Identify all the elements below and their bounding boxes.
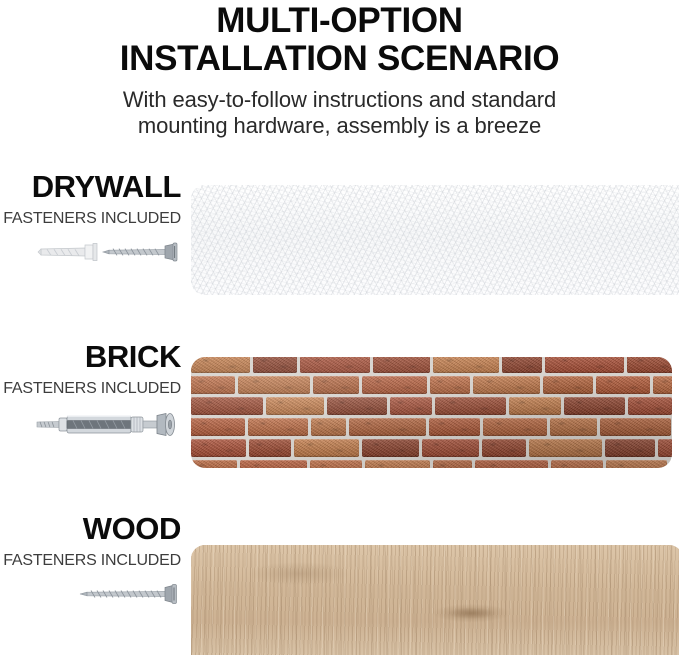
brick-unit [300, 357, 370, 373]
drywall-fasteners-note: FASTENERS INCLUDED [0, 209, 181, 228]
brick-unit [249, 439, 291, 457]
brick-course [191, 416, 672, 437]
brick-unit [390, 397, 432, 415]
brick-unit [191, 397, 263, 415]
brick-unit [191, 460, 237, 468]
brick-unit [545, 357, 624, 373]
brick-unit [502, 357, 542, 373]
brick-unit [310, 460, 362, 468]
brick-unit [600, 418, 671, 436]
wood-fastener-art [0, 579, 181, 619]
brick-unit [628, 397, 672, 415]
brick-course [191, 374, 672, 395]
brick-unit [543, 376, 593, 394]
brick-unit [191, 357, 250, 373]
brick-unit [373, 357, 430, 373]
brick-unit [670, 460, 672, 468]
brick-unit [550, 418, 597, 436]
wood-screw-icon [80, 585, 177, 604]
brick-fasteners-note: FASTENERS INCLUDED [0, 379, 181, 398]
brick-unit [349, 418, 426, 436]
brick-unit [564, 397, 625, 415]
brick-unit [311, 418, 346, 436]
brick-unit [482, 439, 526, 457]
brick-unit [483, 418, 547, 436]
brick-unit [266, 397, 324, 415]
drywall-fastener-art [0, 237, 181, 277]
drywall-texture [191, 185, 679, 295]
brick-unit [313, 376, 359, 394]
brick-unit [191, 376, 235, 394]
wood-texture [191, 545, 679, 655]
brick-unit [605, 439, 655, 457]
wall-anchor-icon [38, 244, 97, 261]
brick-unit [596, 376, 650, 394]
brick-unit [327, 397, 387, 415]
brick-unit [362, 439, 419, 457]
brick-label-column: BRICK FASTENERS INCLUDED [0, 340, 186, 447]
brick-unit [430, 376, 470, 394]
brick-course [191, 458, 672, 468]
brick-texture [191, 357, 672, 468]
brick-unit [240, 460, 307, 468]
brick-unit [429, 418, 480, 436]
drywall-surface-name: DRYWALL [0, 170, 181, 204]
brick-unit [422, 439, 479, 457]
sleeve-anchor-bolt-icon [37, 414, 175, 436]
brick-unit [294, 439, 359, 457]
brick-unit [653, 376, 672, 394]
brick-unit [248, 418, 308, 436]
brick-unit [509, 397, 561, 415]
brick-fastener-group [33, 407, 181, 441]
brick-unit [362, 376, 427, 394]
brick-unit [658, 439, 672, 457]
brick-surface-panel [191, 357, 672, 468]
brick-unit [435, 397, 506, 415]
brick-unit [606, 460, 667, 468]
wood-surface-name: WOOD [0, 512, 181, 546]
brick-unit [238, 376, 310, 394]
header-block: MULTI-OPTION INSTALLATION SCENARIO With … [0, 0, 679, 139]
brick-unit [365, 460, 430, 468]
brick-unit [253, 357, 297, 373]
installation-option-wood: WOOD FASTENERS INCLUDED [0, 512, 679, 643]
page-title: MULTI-OPTION INSTALLATION SCENARIO [0, 0, 679, 78]
installation-option-brick: BRICK FASTENERS INCLUDED [0, 340, 679, 495]
wood-fastener-group [73, 579, 181, 609]
brick-unit [475, 460, 548, 468]
drywall-label-column: DRYWALL FASTENERS INCLUDED [0, 170, 186, 277]
brick-fastener-art [0, 407, 181, 447]
installation-option-drywall: DRYWALL FASTENERS INCLUDED [0, 170, 679, 320]
drywall-fastener-group [33, 237, 181, 267]
page-subtitle-line-1: With easy-to-follow instructions and sta… [0, 87, 679, 113]
brick-unit [433, 460, 472, 468]
brick-unit [627, 357, 672, 373]
wood-label-column: WOOD FASTENERS INCLUDED [0, 512, 186, 619]
page-title-line-2: INSTALLATION SCENARIO [0, 40, 679, 78]
page-title-line-1: MULTI-OPTION [216, 1, 463, 40]
drywall-surface-panel [191, 185, 679, 295]
brick-course [191, 437, 672, 458]
brick-course [191, 395, 672, 416]
brick-unit [473, 376, 540, 394]
brick-unit [433, 357, 499, 373]
wood-surface-panel [191, 545, 679, 655]
wood-fasteners-note: FASTENERS INCLUDED [0, 551, 181, 570]
brick-unit [551, 460, 603, 468]
brick-unit [191, 418, 245, 436]
page-subtitle-line-2: mounting hardware, assembly is a breeze [0, 113, 679, 139]
brick-surface-name: BRICK [0, 340, 181, 374]
brick-unit [529, 439, 602, 457]
brick-course [191, 357, 672, 374]
screw-icon [103, 243, 177, 261]
page-subtitle: With easy-to-follow instructions and sta… [0, 87, 679, 139]
brick-unit [191, 439, 246, 457]
